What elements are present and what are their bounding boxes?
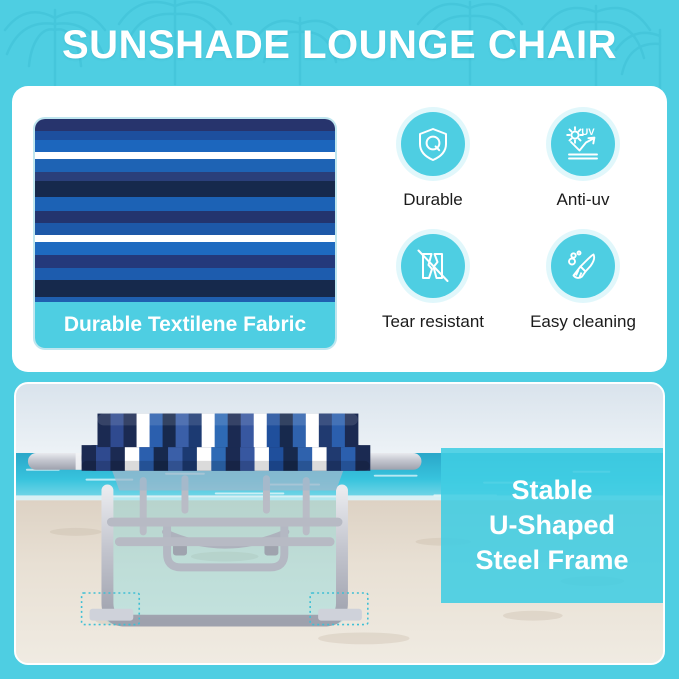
fabric-stripe: [35, 172, 335, 180]
fabric-stripe: [35, 152, 335, 159]
frame-caption-line-3: Steel Frame: [475, 543, 628, 578]
fabric-stripe: [35, 242, 335, 255]
fabric-stripe: [35, 235, 335, 242]
feature-label: Anti-uv: [557, 190, 610, 210]
feature-grid: Durable UV Anti-uv: [358, 112, 658, 356]
fabric-stripe: [35, 140, 335, 151]
fabric-stripe: [35, 211, 335, 223]
fabric-stripe: [35, 197, 335, 210]
fabric-caption-bar: Durable Textilene Fabric: [35, 302, 335, 348]
fabric-stripe: [35, 181, 335, 198]
product-photo-panel: Stable U-Shaped Steel Frame: [14, 382, 665, 665]
feature-easy-cleaning[interactable]: Easy cleaning: [508, 234, 658, 356]
fabric-stripe: [35, 119, 335, 131]
feature-durable[interactable]: Durable: [358, 112, 508, 234]
frame-caption: Stable U-Shaped Steel Frame: [441, 448, 663, 603]
sun-uv-icon: UV: [551, 112, 615, 176]
page-title-text: SUNSHADE LOUNGE CHAIR: [62, 23, 617, 68]
fabric-stripe: [35, 223, 335, 235]
cleaning-brush-icon: [551, 234, 615, 298]
tear-resistant-icon: [401, 234, 465, 298]
frame-caption-line-2: U-Shaped: [489, 508, 615, 543]
fabric-stripe: [35, 131, 335, 140]
fabric-stripe-pattern: [35, 119, 335, 306]
fabric-stripe: [35, 159, 335, 172]
fabric-stripe: [35, 280, 335, 297]
page-title: SUNSHADE LOUNGE CHAIR: [0, 14, 679, 76]
feature-tear-resistant[interactable]: Tear resistant: [358, 234, 508, 356]
fabric-caption-text: Durable Textilene Fabric: [64, 313, 306, 337]
product-infographic: SUNSHADE LOUNGE CHAIR Durable Textilene …: [0, 0, 679, 679]
feature-label: Durable: [403, 190, 463, 210]
feature-label: Tear resistant: [382, 312, 484, 332]
fabric-stripe: [35, 255, 335, 268]
shield-q-icon: [401, 112, 465, 176]
feature-label: Easy cleaning: [530, 312, 636, 332]
fabric-stripe: [35, 268, 335, 279]
fabric-swatch: Durable Textilene Fabric: [33, 117, 337, 350]
feature-anti-uv[interactable]: UV Anti-uv: [508, 112, 658, 234]
uv-icon-text: UV: [581, 127, 595, 138]
frame-caption-line-1: Stable: [511, 473, 592, 508]
